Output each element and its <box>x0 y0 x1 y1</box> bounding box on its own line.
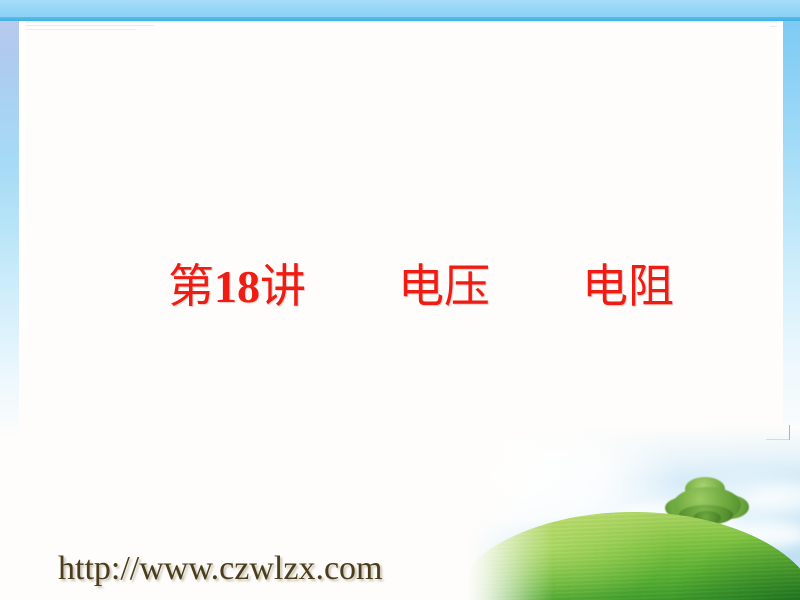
slide-title: 第18讲 电压 电阻 <box>168 258 674 315</box>
right-blue-gradient-strip <box>783 21 800 451</box>
photo-frame-marker-horizontal <box>766 439 790 440</box>
decorative-hairline-left-upper <box>4 25 154 26</box>
top-banner-rule-fade <box>0 21 800 23</box>
title-prefix: 第 <box>168 259 214 313</box>
photo-frame-marker-vertical <box>789 425 790 440</box>
title-suffix: 讲 <box>260 259 306 313</box>
nature-tree-photo <box>467 425 800 600</box>
left-blue-gradient-strip <box>0 21 19 441</box>
presentation-slide: 第18讲 电压 电阻 http://www.czwlzx.com <box>0 0 800 600</box>
top-banner <box>0 0 800 17</box>
right-strip-highlight <box>777 21 783 351</box>
title-lesson-number: 18 <box>214 261 260 312</box>
footer-website-url: http://www.czwlzx.com <box>58 548 383 590</box>
left-strip-highlight <box>19 21 26 376</box>
title-topic-voltage: 电压 <box>398 259 490 313</box>
title-topic-resistance: 电阻 <box>582 259 674 313</box>
title-gap-2 <box>490 259 582 313</box>
title-gap-1 <box>306 259 398 313</box>
